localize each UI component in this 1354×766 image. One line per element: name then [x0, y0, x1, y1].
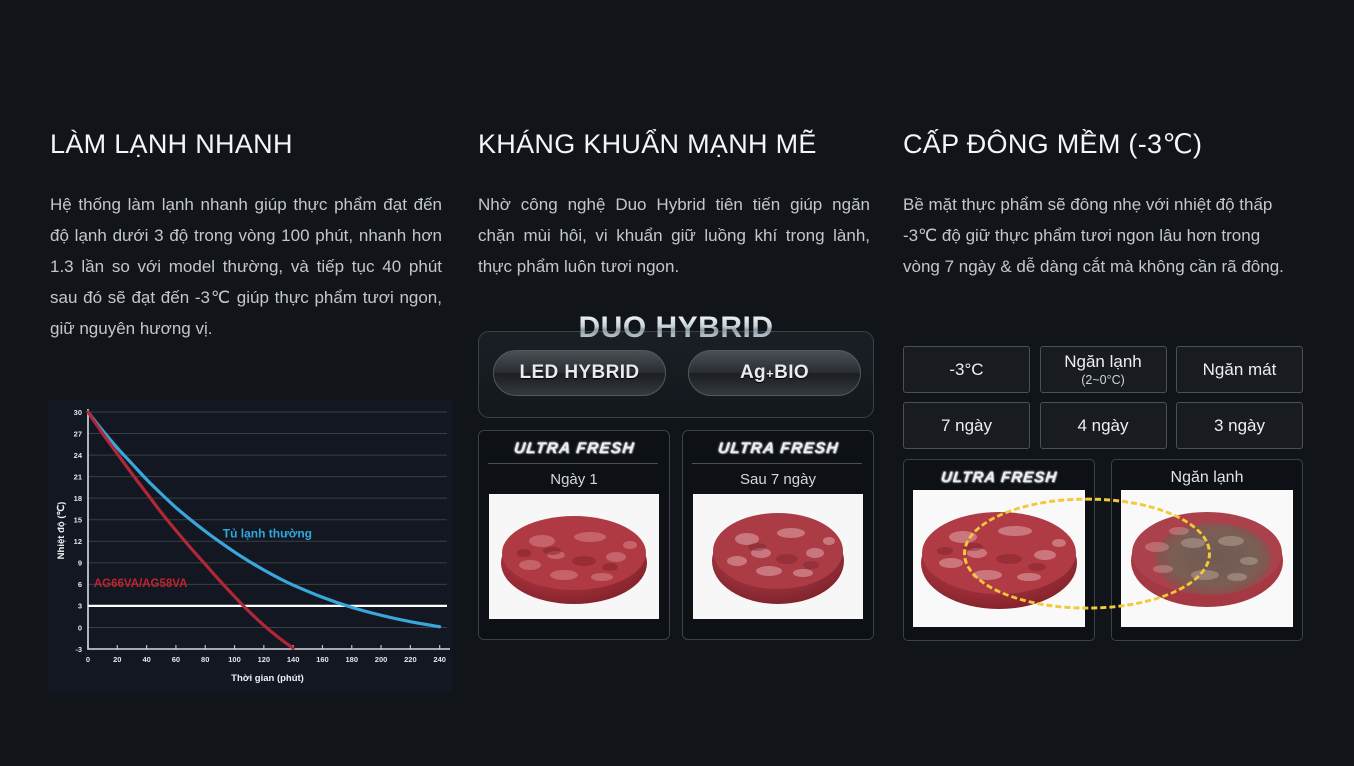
- svg-text:3: 3: [78, 602, 82, 611]
- chart-svg: 020406080100120140160180200220240 302724…: [48, 400, 452, 692]
- svg-text:220: 220: [404, 655, 417, 664]
- svg-text:-3: -3: [75, 645, 82, 654]
- ultra-fresh-logo: ULTRA FRESH: [488, 440, 661, 464]
- svg-text:140: 140: [287, 655, 300, 664]
- feature-column-fast-cooling: LÀM LẠNH NHANH Hệ thống làm lạnh nhanh g…: [50, 130, 448, 344]
- promo-feature-page: LÀM LẠNH NHANH Hệ thống làm lạnh nhanh g…: [0, 0, 1354, 766]
- spec-cell-zone-soft-freeze: -3°C: [903, 346, 1030, 393]
- highlight-ellipse-icon: [963, 497, 1211, 610]
- duo-hybrid-title: DUO HYBRID: [478, 311, 874, 345]
- badge-ag-bio-label: Ag: [740, 362, 766, 384]
- ultra-fresh-caption-day1: Ngày 1: [489, 464, 659, 494]
- soft-freeze-comparison-row: ULTRA FRESH: [903, 459, 1303, 641]
- badge-ag-bio-suffix: BIO: [774, 362, 809, 384]
- spec-cell-main: Ngăn mát: [1203, 360, 1277, 380]
- svg-text:30: 30: [74, 408, 82, 417]
- ultra-fresh-caption-day7: Sau 7 ngày: [693, 464, 863, 494]
- ultra-fresh-logo: ULTRA FRESH: [912, 468, 1086, 490]
- svg-text:0: 0: [78, 623, 82, 632]
- comparison-card-chill-zone: Ngăn lạnh: [1111, 459, 1303, 641]
- feature-column-antibacterial: KHÁNG KHUẨN MẠNH MẼ Nhờ công nghệ Duo Hy…: [478, 130, 874, 282]
- chart-annotation-ag-model: AG66VA/AG58VA: [94, 578, 188, 590]
- duo-hybrid-pill-row: LED HYBRID Ag+ BIO: [493, 350, 861, 396]
- svg-text:180: 180: [345, 655, 358, 664]
- description-antibacterial: Nhờ công nghệ Duo Hybrid tiên tiến giúp …: [478, 189, 870, 282]
- svg-text:60: 60: [172, 655, 180, 664]
- chart-x-axis-label: Thời gian (phút): [231, 673, 304, 684]
- svg-text:100: 100: [228, 655, 241, 664]
- spec-cell-main: 4 ngày: [1077, 416, 1128, 436]
- svg-text:40: 40: [142, 655, 150, 664]
- description-fast-cooling: Hệ thống làm lạnh nhanh giúp thực phẩm đ…: [50, 189, 442, 344]
- spec-cell-main: Ngăn lạnh: [1064, 352, 1142, 372]
- svg-text:12: 12: [74, 537, 82, 546]
- svg-text:200: 200: [375, 655, 388, 664]
- cooling-speed-chart: 020406080100120140160180200220240 302724…: [48, 400, 452, 692]
- spec-cell-days-chill: 4 ngày: [1040, 402, 1167, 449]
- chart-annotation-normal-fridge: Tủ lạnh thường: [223, 527, 312, 541]
- svg-text:80: 80: [201, 655, 209, 664]
- page-title-fast-cooling: LÀM LẠNH NHANH: [50, 130, 448, 160]
- table-row: 7 ngày 4 ngày 3 ngày: [903, 402, 1303, 449]
- ultra-fresh-comparison-row: ULTRA FRESH Ngày 1: [478, 430, 874, 640]
- meat-patty-fresh-1: [494, 501, 654, 613]
- badge-led-hybrid: LED HYBRID: [493, 350, 666, 396]
- table-row: -3°C Ngăn lạnh (2~0°C) Ngăn mát: [903, 346, 1303, 393]
- ultra-fresh-card-day1: ULTRA FRESH Ngày 1: [478, 430, 670, 640]
- svg-text:6: 6: [78, 580, 82, 589]
- spec-cell-zone-chill: Ngăn lạnh (2~0°C): [1040, 346, 1167, 393]
- page-title-antibacterial: KHÁNG KHUẨN MẠNH MẼ: [478, 130, 874, 160]
- ultra-fresh-card-day7: ULTRA FRESH Sau 7 ngày: [682, 430, 874, 640]
- page-title-soft-freeze: CẤP ĐÔNG MỀM (-3℃): [903, 130, 1303, 160]
- svg-text:18: 18: [74, 494, 82, 503]
- svg-text:240: 240: [433, 655, 446, 664]
- svg-text:9: 9: [78, 559, 82, 568]
- spec-cell-main: 3 ngày: [1214, 416, 1265, 436]
- feature-column-soft-freeze: CẤP ĐÔNG MỀM (-3℃) Bề mặt thực phẩm sẽ đ…: [903, 130, 1303, 282]
- svg-text:24: 24: [74, 451, 83, 460]
- svg-text:27: 27: [74, 429, 82, 438]
- spec-cell-days-soft-freeze: 7 ngày: [903, 402, 1030, 449]
- svg-text:160: 160: [316, 655, 329, 664]
- badge-ag-bio-superscript: +: [766, 366, 774, 381]
- svg-text:20: 20: [113, 655, 121, 664]
- svg-text:15: 15: [74, 516, 82, 525]
- chart-y-axis-label: Nhiệt độ (℃): [56, 502, 67, 560]
- spec-cell-main: 7 ngày: [941, 416, 992, 436]
- ultra-fresh-logo: ULTRA FRESH: [692, 440, 865, 464]
- svg-text:21: 21: [74, 472, 82, 481]
- spec-cell-sub: (2~0°C): [1081, 373, 1125, 387]
- svg-text:0: 0: [86, 655, 90, 664]
- description-soft-freeze: Bề mặt thực phẩm sẽ đông nhẹ với nhiệt đ…: [903, 189, 1301, 282]
- spec-cell-days-fridge: 3 ngày: [1176, 402, 1303, 449]
- meat-photo-day1: [489, 494, 659, 619]
- storage-duration-table: -3°C Ngăn lạnh (2~0°C) Ngăn mát 7 ngày 4…: [903, 346, 1303, 458]
- spec-cell-main: -3°C: [949, 360, 983, 380]
- comparison-card-chill-label: Ngăn lạnh: [1121, 468, 1293, 490]
- badge-led-hybrid-label: LED HYBRID: [519, 362, 639, 384]
- meat-patty-fresh-7: [703, 501, 853, 613]
- svg-text:120: 120: [258, 655, 271, 664]
- badge-ag-bio: Ag+ BIO: [688, 350, 861, 396]
- spec-cell-zone-fridge: Ngăn mát: [1176, 346, 1303, 393]
- meat-photo-day7: [693, 494, 863, 619]
